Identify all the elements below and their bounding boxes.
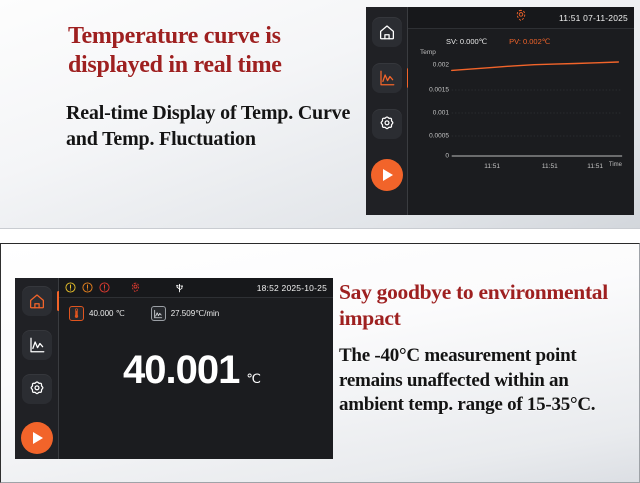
target-icon [515,9,528,27]
gear-icon [28,380,46,398]
home-icon [28,292,46,310]
trend-chart: SV: 0.000℃ PV: 0.002℃ Temp 0.002 0.0015 … [408,29,634,215]
device-bottom-clock: 18:52 2025-10-25 [257,283,327,293]
x-tick: 11:51 [542,163,558,170]
x-axis-label: Time [609,162,622,168]
sidebar-item-home[interactable] [372,17,402,47]
usb-icon [173,281,186,294]
warning-yellow-icon[interactable] [65,282,76,293]
screenshot-root: Temperature curve is displayed in real t… [0,0,640,483]
gear-icon [378,115,396,133]
main-temperature-readout: 40.001 ℃ [59,350,325,390]
reading-chips: 40.000 ℃ 27.509℃/min [69,306,323,321]
play-icon [33,432,43,444]
sidebar-item-settings[interactable] [372,109,402,139]
main-value: 40.001 [123,350,239,390]
page-title-top: Temperature curve is displayed in real t… [68,22,348,81]
temperature-chip[interactable]: 40.000 ℃ [69,306,125,321]
device-bottom-main: 18:52 2025-10-25 40.0 [59,278,333,459]
plot-svg [418,57,624,161]
x-tick: 11:51 [587,163,603,170]
y-axis-label: Temp [420,49,628,56]
rate-chart-icon [151,306,166,321]
device-top-clock: 11:51 07-11-2025 [559,13,628,23]
device-top-main: 11:51 07-11-2025 SV: 0.000℃ PV: 0.002℃ T… [408,7,634,215]
device-top-sidebar [366,7,408,215]
subcopy-bottom: The -40°C measurement point remains unaf… [339,344,629,418]
sidebar-item-chart[interactable] [372,63,402,93]
pv-value: PV: 0.002℃ [509,37,550,46]
warning-red-icon[interactable] [99,282,110,293]
rate-chip[interactable]: 27.509℃/min [151,306,220,321]
subcopy-top: Real-time Display of Temp. Curve and Tem… [66,100,356,152]
device-top-header: 11:51 07-11-2025 [408,7,634,29]
thermometer-icon [69,306,84,321]
device-bottom-header: 18:52 2025-10-25 [59,278,333,298]
device-bottom-sidebar [15,278,59,459]
run-button[interactable] [21,422,53,454]
warning-orange-icon[interactable] [82,282,93,293]
page-title-bottom: Say goodbye to environmental impact [339,279,624,331]
temperature-chip-value: 40.000 ℃ [89,309,125,318]
status-icon-group [65,282,141,293]
play-icon [383,169,393,181]
panel-top: Temperature curve is displayed in real t… [0,0,640,229]
chart-icon [378,69,396,87]
home-readout: 40.000 ℃ 27.509℃/min [59,298,333,459]
x-axis-ticks: 11:51 11:51 11:51 Time [418,161,624,173]
setpoint-readouts: SV: 0.000℃ PV: 0.002℃ [414,37,628,46]
run-button[interactable] [371,159,403,191]
device-screen-top: 11:51 07-11-2025 SV: 0.000℃ PV: 0.002℃ T… [366,7,634,215]
home-icon [378,23,396,41]
device-screen-bottom: 18:52 2025-10-25 40.0 [15,278,333,459]
sidebar-item-chart[interactable] [22,330,52,360]
x-tick: 11:51 [484,163,500,170]
sidebar-item-home[interactable] [22,286,52,316]
chart-icon [28,336,46,354]
panel-bottom: Say goodbye to environmental impact The … [0,243,640,483]
main-unit: ℃ [246,371,261,387]
plot-area: 0.002 0.0015 0.001 0.0005 0 [418,57,624,161]
sidebar-item-settings[interactable] [22,374,52,404]
sv-value: SV: 0.000℃ [446,37,487,46]
target-icon[interactable] [130,282,141,293]
rate-chip-value: 27.509℃/min [171,309,220,318]
